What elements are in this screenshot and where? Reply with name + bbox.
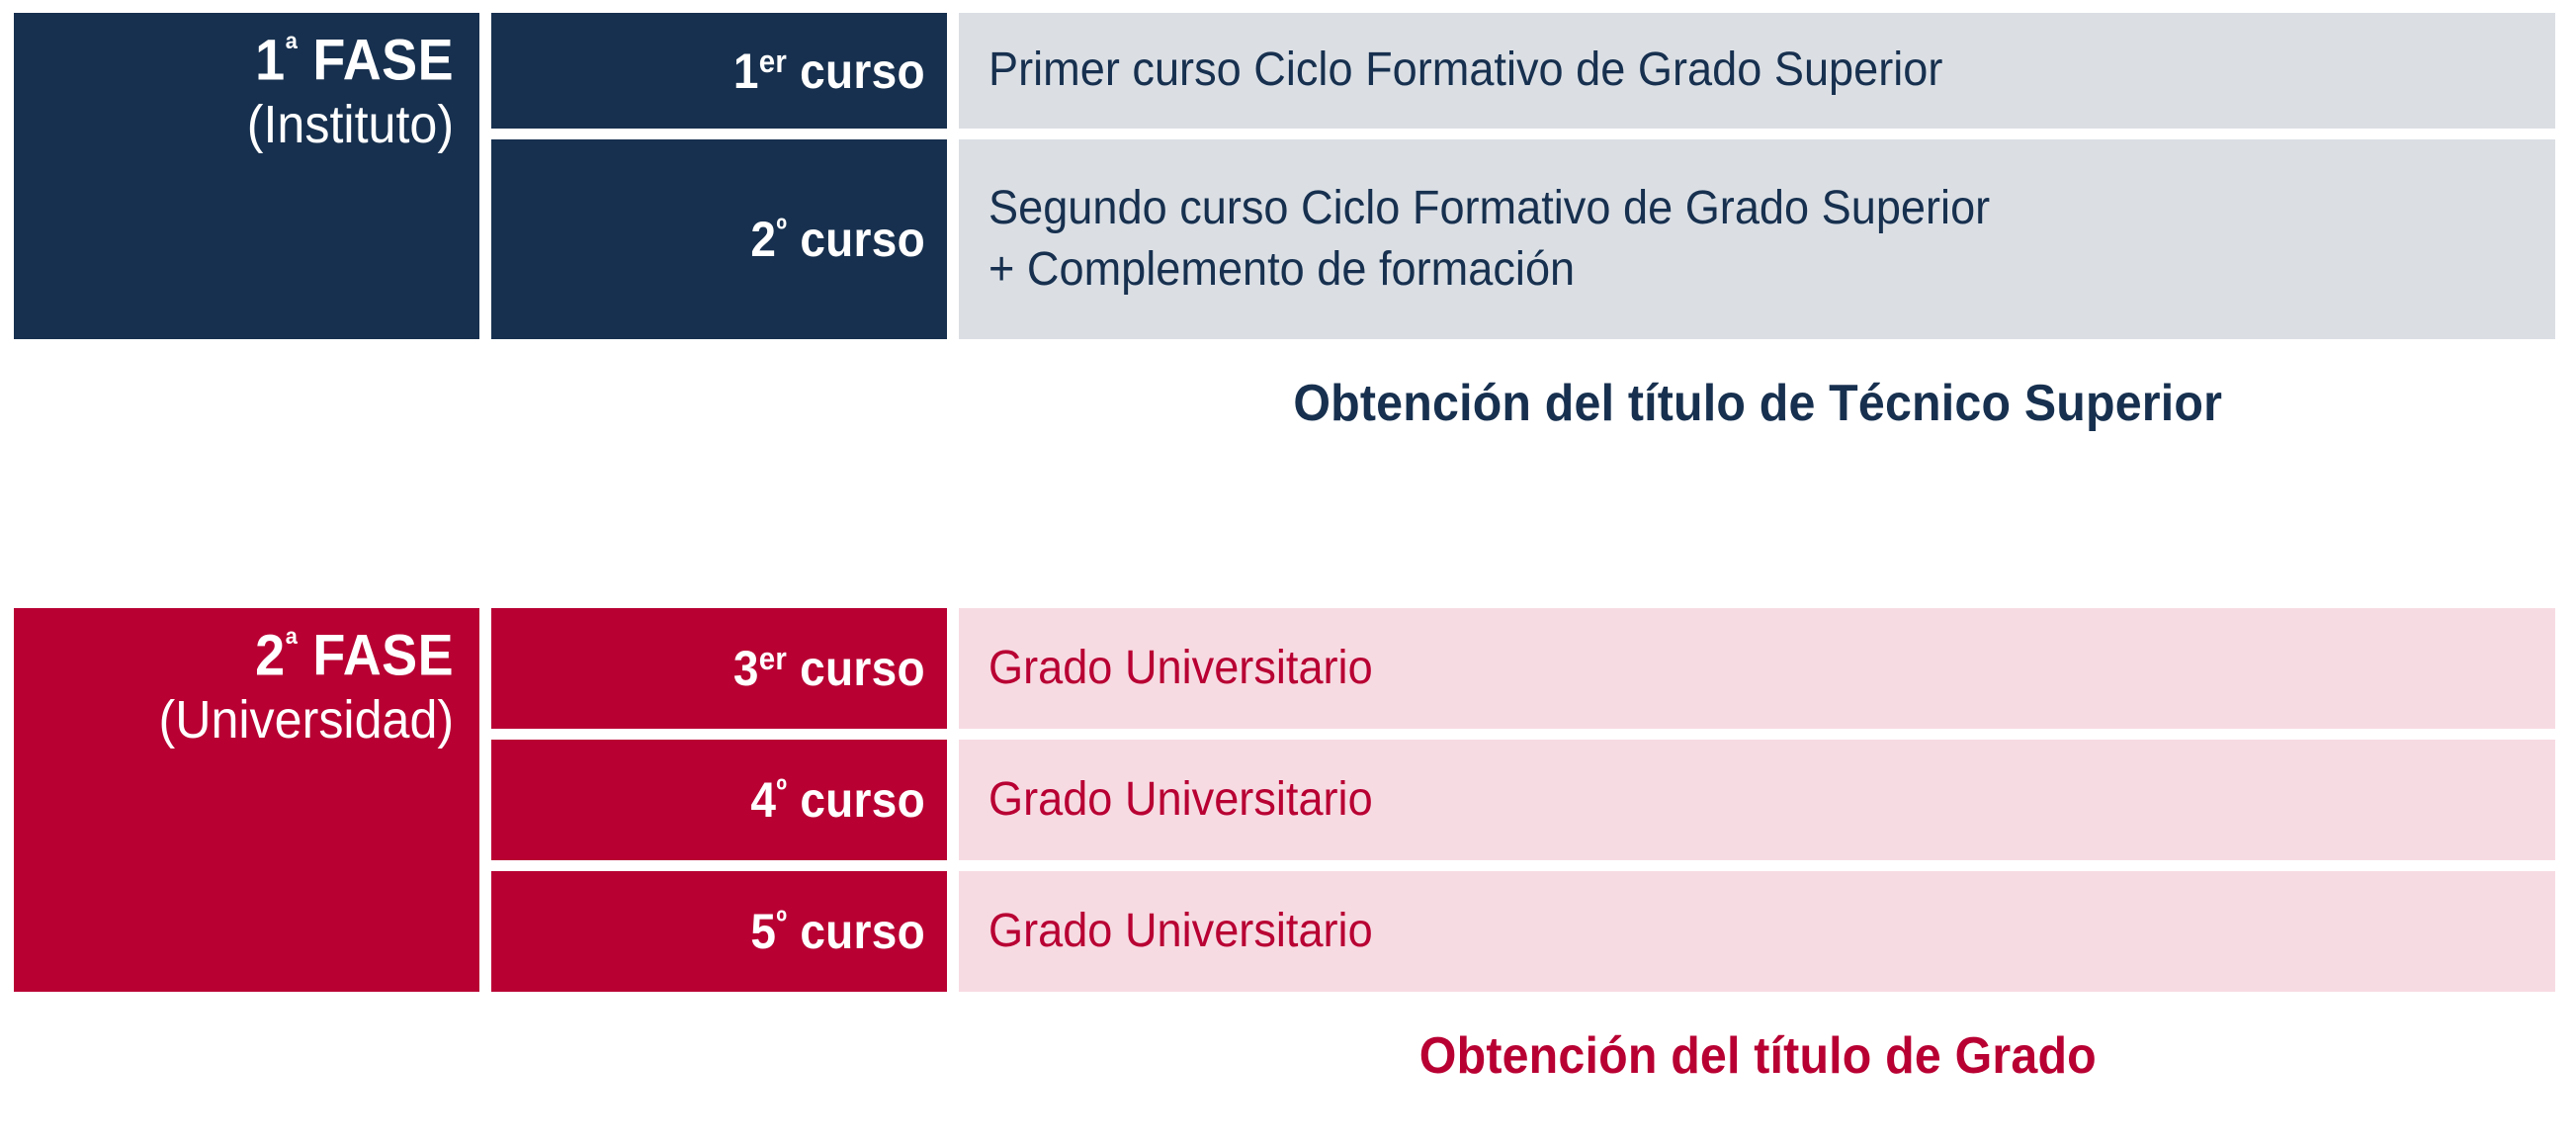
phase-2-label: 2ªFASE (Universidad) <box>14 608 479 992</box>
phase-2-title-number: 2 <box>255 624 285 688</box>
phase-2-row-3-course-ordinal: º <box>776 904 787 939</box>
column-gap <box>947 740 959 860</box>
phase-1-rows: 1er curso Primer curso Ciclo Formativo d… <box>491 13 2555 339</box>
column-gap <box>947 13 959 129</box>
phase-1-caption: Obtención del título de Técnico Superior <box>959 374 2556 433</box>
phase-2-rows: 3er curso Grado Universitario 4º curso G… <box>491 608 2555 992</box>
phase-2-row-2-course: 4º curso <box>491 740 947 860</box>
phase-2-row-1-course-number: 3 <box>733 641 759 696</box>
phase-2-title-ordinal: ª <box>286 624 299 664</box>
phase-2-row-2-course-word: curso <box>800 772 925 828</box>
phase-2-caption: Obtención del título de Grado <box>959 1026 2556 1086</box>
phase-1-row-2-course: 2º curso <box>491 139 947 339</box>
phase-1-row-2-course-ordinal: º <box>776 212 787 247</box>
phase-1-row-2: 2º curso Segundo curso Ciclo Formativo d… <box>491 139 2555 339</box>
phase-1-label: 1ªFASE (Instituto) <box>14 13 479 339</box>
phase-2-title: 2ªFASE <box>255 626 454 686</box>
phase-1-subtitle: (Instituto) <box>247 95 454 154</box>
phase-2-row-3-course-number: 5 <box>750 904 776 959</box>
phase-2-row-3-description: Grado Universitario <box>959 871 2555 992</box>
phase-1-row-2-course-number: 2 <box>750 212 776 267</box>
description-line: Grado Universitario <box>988 901 2434 962</box>
column-gap <box>947 139 959 339</box>
description-line: Primer curso Ciclo Formativo de Grado Su… <box>988 40 2434 101</box>
phase-2-row-3-course: 5º curso <box>491 871 947 992</box>
phase-1-row-2-course-word: curso <box>800 212 925 267</box>
phase-2-row-1-description: Grado Universitario <box>959 608 2555 729</box>
phase-2-row-1-course-word: curso <box>800 641 925 696</box>
description-line: Grado Universitario <box>988 638 2434 699</box>
phase-2-title-word: FASE <box>312 624 454 688</box>
phase-2-row-1-course: 3er curso <box>491 608 947 729</box>
phase-1-row-1-course-number: 1 <box>733 44 759 99</box>
description-line: Segundo curso Ciclo Formativo de Grado S… <box>988 178 2434 239</box>
phase-1-block: 1ªFASE (Instituto) 1er curso Primer curs… <box>14 13 2555 339</box>
phase-1-row-1-course-word: curso <box>800 44 925 99</box>
phase-1-row-1-course-ordinal: er <box>759 44 787 79</box>
phase-2-block: 2ªFASE (Universidad) 3er curso Grado Uni… <box>14 608 2555 992</box>
column-gap <box>947 871 959 992</box>
description-line: Grado Universitario <box>988 769 2434 831</box>
phase-2-subtitle: (Universidad) <box>158 690 454 750</box>
phase-2-row-2-description: Grado Universitario <box>959 740 2555 860</box>
phase-1-row-1-course: 1er curso <box>491 13 947 129</box>
phase-1-row-2-description: Segundo curso Ciclo Formativo de Grado S… <box>959 139 2555 339</box>
column-gap <box>947 608 959 729</box>
phase-2-row-3-course-word: curso <box>800 904 925 959</box>
phase-2-row-1: 3er curso Grado Universitario <box>491 608 2555 729</box>
phase-2-row-1-course-ordinal: er <box>759 641 787 676</box>
phase-2-row-3: 5º curso Grado Universitario <box>491 871 2555 992</box>
phase-1-row-1: 1er curso Primer curso Ciclo Formativo d… <box>491 13 2555 129</box>
description-line: + Complemento de formación <box>988 239 2434 301</box>
phase-1-title-ordinal: ª <box>286 29 299 69</box>
phase-1-title-word: FASE <box>312 29 454 93</box>
phase-2-row-2-course-ordinal: º <box>776 772 787 808</box>
phase-1-title: 1ªFASE <box>255 31 454 91</box>
diagram-canvas: 1ªFASE (Instituto) 1er curso Primer curs… <box>0 0 2576 1147</box>
phase-1-caption-text: Obtención del título de Técnico Superior <box>1293 374 2222 433</box>
phase-1-row-1-description: Primer curso Ciclo Formativo de Grado Su… <box>959 13 2555 129</box>
phase-2-caption-text: Obtención del título de Grado <box>1418 1026 2096 1086</box>
phase-2-row-2-course-number: 4 <box>750 772 776 828</box>
phase-2-row-2: 4º curso Grado Universitario <box>491 740 2555 860</box>
phase-1-title-number: 1 <box>255 29 285 93</box>
